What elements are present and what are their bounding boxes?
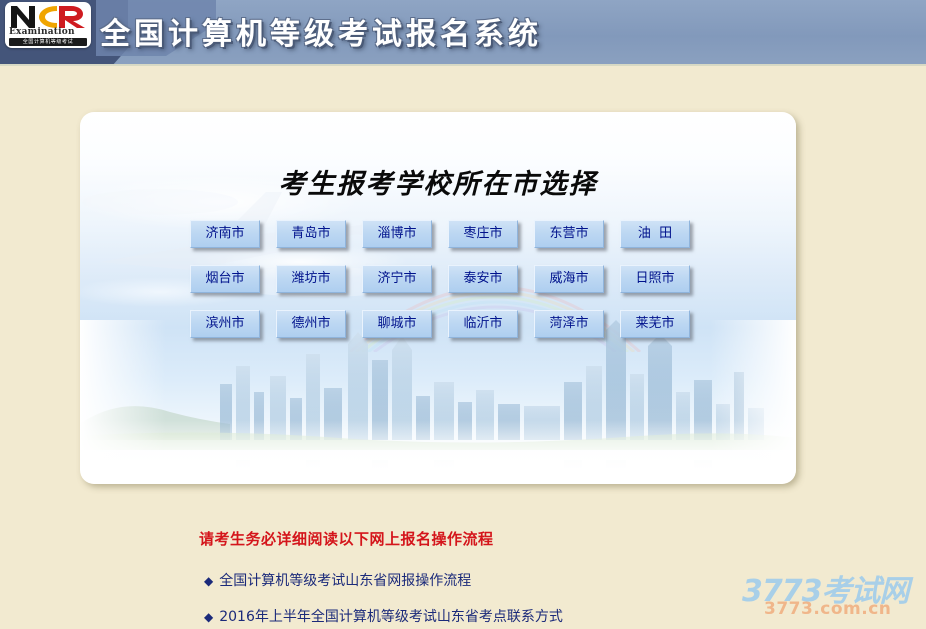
city-selection-panel: 考生报考学校所在市选择 济南市 青岛市 淄博市 枣庄市 东营市 油 田 烟台市 …: [80, 112, 796, 484]
city-row: 滨州市 德州市 聊城市 临沂市 菏泽市 莱芜市: [190, 310, 702, 338]
city-button-weihai[interactable]: 威海市: [534, 265, 604, 293]
city-row: 济南市 青岛市 淄博市 枣庄市 东营市 油 田: [190, 220, 702, 248]
header-divider: [0, 64, 926, 66]
city-button-qingdao[interactable]: 青岛市: [276, 220, 346, 248]
city-button-liaocheng[interactable]: 聊城市: [362, 310, 432, 338]
city-button-dezhou[interactable]: 德州市: [276, 310, 346, 338]
city-button-dongying[interactable]: 东营市: [534, 220, 604, 248]
link-label: 全国计算机等级考试山东省网报操作流程: [219, 573, 471, 589]
ncre-logo-subtitle: Examination: [9, 27, 89, 37]
watermark-url-text: 3773.com.cn: [764, 599, 926, 619]
ncre-logo: Examination 全国计算机等级考试: [5, 2, 91, 48]
city-button-jinan[interactable]: 济南市: [190, 220, 260, 248]
city-button-binzhou[interactable]: 滨州市: [190, 310, 260, 338]
diamond-bullet-icon: ◆: [204, 610, 213, 624]
city-button-zaozhuang[interactable]: 枣庄市: [448, 220, 518, 248]
city-button-weifang[interactable]: 潍坊市: [276, 265, 346, 293]
site-header: Examination 全国计算机等级考试 全国计算机等级考试报名系统: [0, 0, 926, 66]
link-registration-process[interactable]: ◆全国计算机等级考试山东省网报操作流程: [204, 570, 471, 590]
city-button-jining[interactable]: 济宁市: [362, 265, 432, 293]
city-button-grid: 济南市 青岛市 淄博市 枣庄市 东营市 油 田 烟台市 潍坊市 济宁市 泰安市 …: [190, 220, 702, 355]
city-button-youtian[interactable]: 油 田: [620, 220, 690, 248]
city-button-linyi[interactable]: 临沂市: [448, 310, 518, 338]
notice-title: 请考生务必详细阅读以下网上报名操作流程: [199, 528, 494, 549]
site-title: 全国计算机等级考试报名系统: [100, 9, 542, 53]
city-button-heze[interactable]: 菏泽市: [534, 310, 604, 338]
city-button-zibo[interactable]: 淄博市: [362, 220, 432, 248]
city-button-rizhao[interactable]: 日照市: [620, 265, 690, 293]
site-watermark: 3773考试网 3773.com.cn: [742, 566, 922, 622]
link-exam-site-contacts[interactable]: ◆2016年上半年全国计算机等级考试山东省考点联系方式: [204, 606, 563, 626]
diamond-bullet-icon: ◆: [204, 574, 213, 588]
watermark-main-text: 3773考试网: [742, 566, 922, 610]
city-row: 烟台市 潍坊市 济宁市 泰安市 威海市 日照市: [190, 265, 702, 293]
city-button-laiwu[interactable]: 莱芜市: [620, 310, 690, 338]
city-button-yantai[interactable]: 烟台市: [190, 265, 260, 293]
city-button-taian[interactable]: 泰安市: [448, 265, 518, 293]
panel-heading: 考生报考学校所在市选择: [80, 162, 796, 201]
link-label: 2016年上半年全国计算机等级考试山东省考点联系方式: [219, 609, 563, 625]
ncre-logo-chinese-bar: 全国计算机等级考试: [9, 38, 87, 46]
